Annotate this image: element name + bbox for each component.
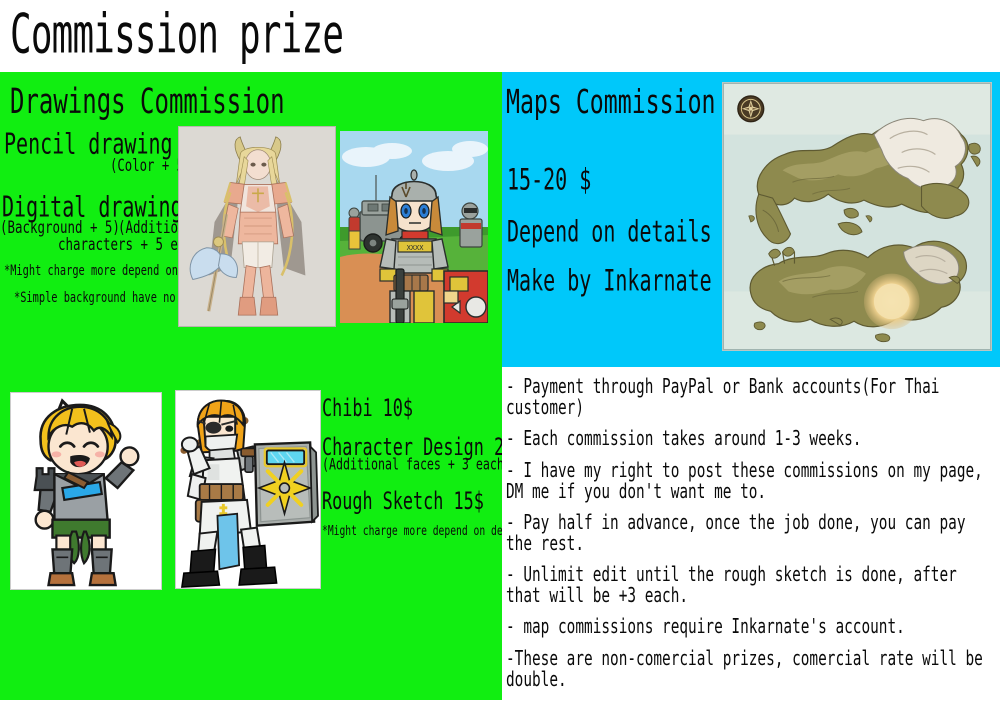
- fantasy-map-illustration: [723, 83, 991, 350]
- maps-price: 15-20 $: [507, 163, 591, 197]
- term-item: - Pay half in advance, once the job done…: [506, 512, 998, 556]
- chibi-artwork: [10, 392, 162, 590]
- commission-prize-poster: Commission prize Drawings Commission Pen…: [0, 0, 1000, 707]
- maps-made-by-inkarnate: Make by Inkarnate: [507, 264, 712, 298]
- maps-commission-heading: Maps Commission: [506, 82, 716, 121]
- term-item: - map commissions require Inkarnate's ac…: [506, 616, 998, 638]
- chibi-character-illustration: [11, 393, 161, 589]
- character-design-additional-faces-note: (Additional faces + 3 each): [322, 456, 511, 474]
- digital-soldier-illustration: XXXX: [340, 131, 488, 323]
- chibi-price: Chibi 10$: [322, 394, 413, 422]
- term-item: - I have my right to post these commissi…: [506, 460, 998, 504]
- rough-sketch-price: Rough Sketch 15$: [322, 487, 484, 515]
- term-item: - Each commission takes around 1-3 weeks…: [506, 428, 998, 450]
- term-item: - Unlimit edit until the rough sketch is…: [506, 564, 998, 608]
- character-design-illustration: [176, 391, 320, 588]
- term-item: - Payment through PayPal or Bank account…: [506, 376, 998, 420]
- page-title: Commission prize: [10, 2, 343, 66]
- maps-depend-on-details: Depend on details: [507, 215, 712, 249]
- term-item: -These are non-comercial prizes, comerci…: [506, 648, 998, 692]
- svg-text:XXXX: XXXX: [407, 244, 425, 252]
- pencil-warrior-illustration: [179, 127, 335, 326]
- pencil-drawing-artwork: [178, 126, 336, 327]
- rough-sketch-disclaimer: *Might charge more depend on details: [322, 523, 532, 538]
- character-design-artwork: [175, 390, 321, 589]
- digital-drawing-artwork: XXXX: [340, 131, 488, 323]
- compass-rose-icon: [738, 96, 764, 122]
- fantasy-map-artwork: [722, 82, 992, 351]
- terms-list: - Payment through PayPal or Bank account…: [506, 376, 998, 700]
- drawings-commission-heading: Drawings Commission: [10, 82, 285, 122]
